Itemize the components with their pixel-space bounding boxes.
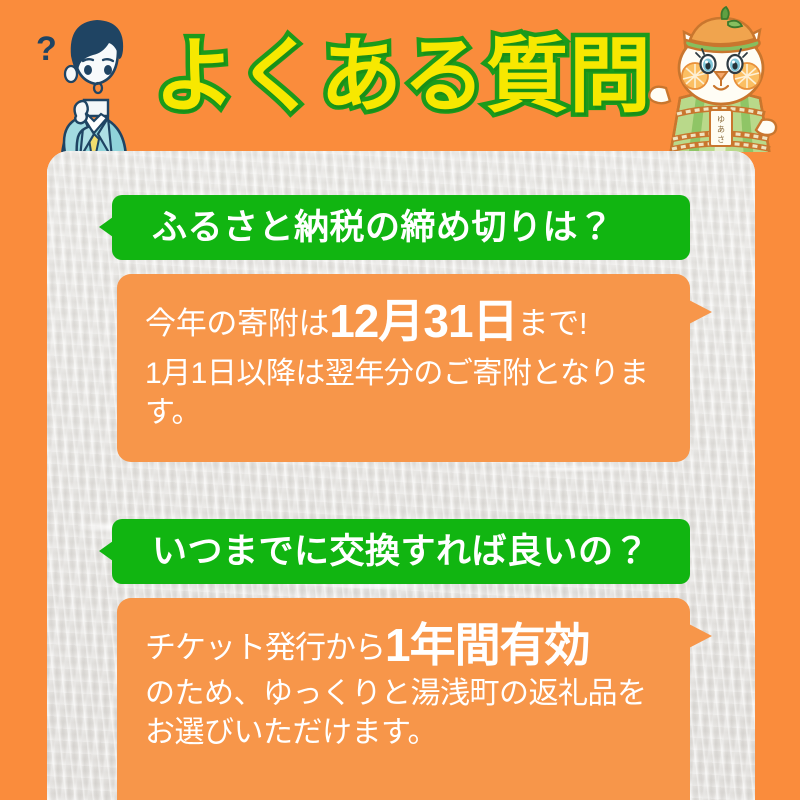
- page-title: よくある質問: [168, 22, 638, 132]
- answer-lead-prefix: 今年の寄附は: [145, 306, 329, 341]
- yuasa-cat-mascot-illustration: ゆ あ さ: [644, 2, 796, 152]
- answer-box: チケット発行から1年間有効 のため、ゆっくりと湯浅町の返礼品をお選びいただけます…: [117, 598, 690, 800]
- question-banner[interactable]: ふるさと納税の締め切りは？: [112, 195, 690, 260]
- svg-text:ゆ: ゆ: [717, 115, 725, 124]
- answer-lead-suffix: まで!: [518, 306, 588, 341]
- answer-lead: チケット発行から1年間有効: [145, 620, 670, 672]
- svg-text:さ: さ: [717, 135, 725, 144]
- svg-text:?: ?: [36, 30, 57, 68]
- answer-box: 今年の寄附は12月31日まで! 1月1日以降は翌年分のご寄附となります。: [117, 274, 690, 462]
- question-text: ふるさと納税の締め切りは？: [112, 210, 614, 245]
- faq-page: ?: [0, 0, 800, 800]
- question-banner[interactable]: いつまでに交換すれば良いの？: [112, 519, 690, 584]
- svg-text:あ: あ: [717, 125, 725, 134]
- content-panel: ふるさと納税の締め切りは？ 今年の寄附は12月31日まで! 1月1日以降は翌年分…: [47, 151, 755, 800]
- answer-lead-emphasis: 1年間有効: [385, 619, 590, 671]
- answer-lead: 今年の寄附は12月31日まで!: [145, 296, 670, 348]
- answer-body: のため、ゆっくりと湯浅町の返礼品をお選びいただけます。: [145, 674, 669, 754]
- answer-lead-prefix: チケット発行から: [145, 630, 385, 665]
- answer-lead-emphasis: 12月31日: [329, 295, 517, 347]
- question-text: いつまでに交換すれば良いの？: [112, 534, 649, 569]
- thinking-businessman-illustration: ?: [28, 8, 160, 152]
- page-header: ?: [0, 0, 800, 152]
- answer-body: 1月1日以降は翌年分のご寄附となります。: [145, 354, 669, 434]
